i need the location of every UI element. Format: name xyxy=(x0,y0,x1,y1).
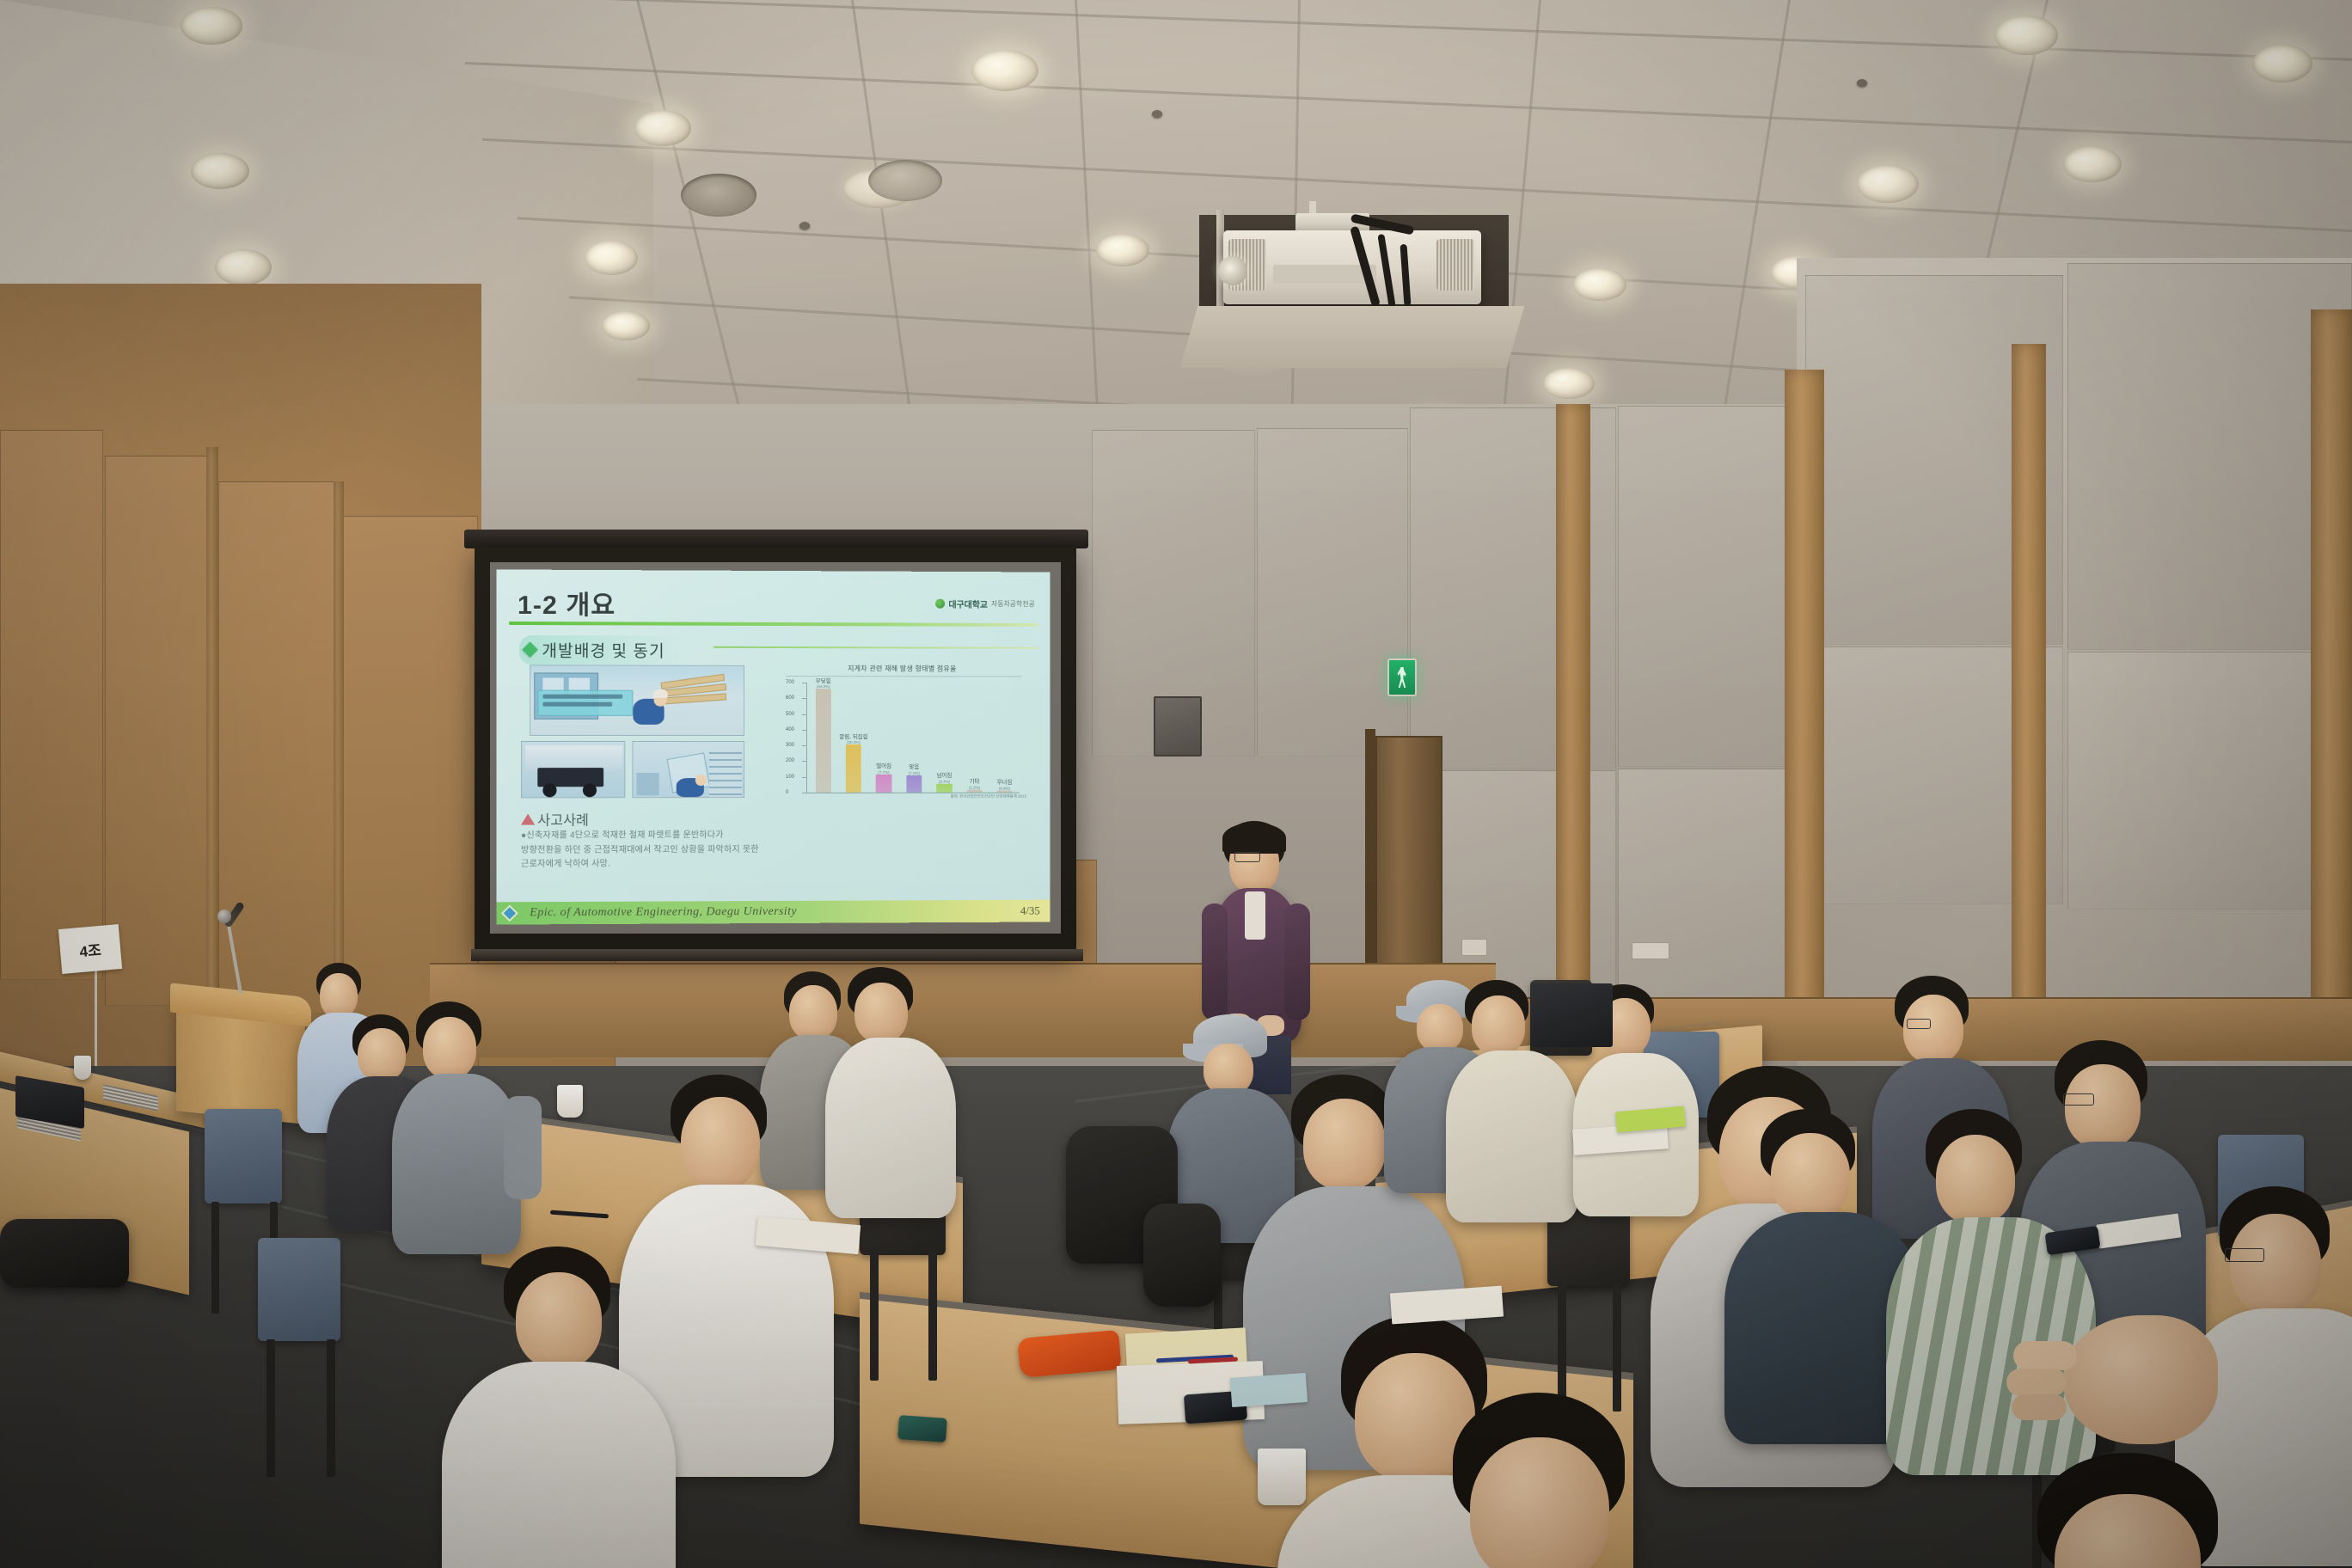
duffel-bag[interactable] xyxy=(0,1219,129,1288)
presentation-slide: 1-2 개요 대구대학교 자동차공학전공 개발배경 및 동기 xyxy=(497,569,1050,924)
illustration-forklift-accident-1 xyxy=(530,665,744,736)
ceiling-downlight xyxy=(971,50,1038,91)
light-switch-plate[interactable] xyxy=(1632,942,1669,959)
ceiling-downlight xyxy=(585,241,638,275)
laptop[interactable] xyxy=(1530,983,1613,1047)
slide-footer: Epic. of Automotive Engineering, Daegu U… xyxy=(497,900,1050,925)
chart-y-tick-label: 200 xyxy=(786,758,794,763)
chart-bar-label: 부딪힘(44.0%) xyxy=(816,678,831,689)
screen-surface: 1-2 개요 대구대학교 자동차공학전공 개발배경 및 동기 xyxy=(490,562,1061,934)
chart-y-tick-label: 500 xyxy=(786,712,794,717)
slide-title: 1-2 개요 xyxy=(518,584,616,622)
slide-title-rule xyxy=(509,622,1038,627)
logo-primary-text: 대구대학교 xyxy=(948,597,988,610)
chart-bar-label: 무너짐(0.8%) xyxy=(997,780,1013,791)
ceiling-downlight xyxy=(2063,146,2122,182)
illustration-forklift-photo xyxy=(521,741,625,798)
wood-panel xyxy=(105,456,217,1006)
case-heading-text: 사고사례 xyxy=(537,808,589,829)
slide-subtitle-rule xyxy=(714,646,1038,649)
case-line: ●신축자재를 4단으로 적재한 철재 파렛트를 운반하다가 xyxy=(521,829,884,844)
chart-plot-area: 부딪힘(44.0%)깔림, 뒤집힘(20.3%)떨어짐(7.7%)맞음(7.3%… xyxy=(808,683,1020,793)
case-heading: 사고사례 xyxy=(521,808,884,830)
wood-panel xyxy=(340,516,478,1032)
slide-page-number: 4/35 xyxy=(1020,904,1040,918)
slide-bar-chart: 지게차 관련 재해 발생 형태별 점유율 부딪힘(44.0%)깔림, 뒤집힘(2… xyxy=(774,664,1030,818)
chart-y-tick-label: 0 xyxy=(786,790,788,795)
projector-vent xyxy=(1436,239,1474,291)
wood-panel xyxy=(218,481,339,1014)
chart-bar-label: 맞음(7.3%) xyxy=(909,764,920,775)
microphone-head xyxy=(217,910,231,923)
chart-bar-label: 넘어짐(3.7%) xyxy=(937,773,952,784)
lecture-hall-photo: 1-2 개요 대구대학교 자동차공학전공 개발배경 및 동기 xyxy=(0,0,2352,1568)
projector-lens xyxy=(1218,256,1247,285)
wood-column xyxy=(334,481,344,1032)
chart-y-tick-label: 600 xyxy=(786,695,794,701)
screen-roller-case xyxy=(464,530,1088,548)
sprinkler-head xyxy=(799,222,810,230)
ceiling-downlight xyxy=(191,153,249,189)
ceiling-grid-line xyxy=(482,0,2352,61)
chart-y-tick-label: 400 xyxy=(786,727,794,732)
illustration-forklift-accident-2 xyxy=(632,741,744,798)
illustration-caption-box xyxy=(537,690,633,716)
chart-y-axis xyxy=(806,683,807,793)
sign-stand-pole xyxy=(95,963,97,1066)
chart-y-tick-mark xyxy=(802,777,806,778)
ceiling-downlight xyxy=(215,249,272,285)
ceiling-projector xyxy=(1199,215,1509,370)
wood-column xyxy=(2012,344,2046,1032)
chart-y-tick-mark xyxy=(802,698,806,699)
chart-bar: 떨어짐(7.7%) xyxy=(876,775,891,793)
chart-y-tick-label: 100 xyxy=(786,775,794,780)
ceiling-speaker xyxy=(868,160,942,201)
chart-y-tick-mark xyxy=(802,714,806,715)
wood-column xyxy=(2311,309,2352,1049)
wood-column xyxy=(206,447,218,1014)
ceiling-downlight xyxy=(602,311,650,340)
chart-bar: 맞음(7.3%) xyxy=(906,775,922,793)
screen-bottom-bar xyxy=(471,949,1083,961)
ceiling-downlight xyxy=(2252,45,2312,83)
light-switch-plate[interactable] xyxy=(1461,939,1487,956)
chart-title: 지게차 관련 재해 발생 형태별 점유율 xyxy=(774,664,1030,674)
chart-bar: 무너짐(0.8%) xyxy=(996,790,1012,792)
ceiling-grid-line xyxy=(465,62,2352,144)
ceiling-downlight xyxy=(1543,368,1595,399)
booklet[interactable] xyxy=(1230,1373,1308,1407)
warning-triangle-icon xyxy=(521,813,535,824)
wood-panel xyxy=(0,430,103,980)
paper-cup[interactable] xyxy=(74,1056,91,1080)
paper-cup[interactable] xyxy=(557,1085,583,1118)
slide-subtitle-text: 개발배경 및 동기 xyxy=(542,638,665,662)
running-man-icon xyxy=(1397,667,1407,688)
wall-panel xyxy=(1618,406,1798,767)
wall-panel xyxy=(2067,263,2352,650)
chart-bar-label: 기타(1.2%) xyxy=(969,779,980,790)
wood-column xyxy=(1785,370,1824,1057)
projection-screen: 1-2 개요 대구대학교 자동차공학전공 개발배경 및 동기 xyxy=(475,547,1076,952)
logo-mark-icon xyxy=(936,599,946,609)
smartphone[interactable] xyxy=(897,1415,947,1442)
chart-y-tick-mark xyxy=(802,761,806,762)
ceiling-downlight xyxy=(634,110,691,146)
projector-body xyxy=(1223,230,1481,304)
chart-top-rule xyxy=(786,676,1021,677)
slide-case-section: 사고사례 ●신축자재를 4단으로 적재한 철재 파렛트를 운반하다가 방향전환을… xyxy=(521,808,884,873)
ceiling-vent xyxy=(681,174,756,217)
chart-bar-label: 깔림, 뒤집힘(20.3%) xyxy=(839,734,867,745)
chart-bar: 기타(1.2%) xyxy=(966,789,982,792)
wall-panel xyxy=(1257,428,1408,756)
ceiling-downlight xyxy=(1573,268,1626,301)
ceiling-downlight xyxy=(1096,234,1149,266)
chart-y-tick-mark xyxy=(802,730,806,731)
slide-illustrations xyxy=(521,665,746,799)
case-line: 방향전환을 하던 중 근접적재대에서 작고인 상황을 파악하지 못한 xyxy=(521,842,884,858)
chart-bar-label: 떨어짐(7.7%) xyxy=(876,763,891,775)
logo-secondary-text: 자동차공학전공 xyxy=(991,599,1035,609)
sprinkler-head xyxy=(1857,79,1867,87)
chart-y-tick-mark xyxy=(802,683,806,683)
wall-panel xyxy=(1618,769,1798,1026)
case-line: 근로자에게 낙하여 사망. xyxy=(521,857,884,873)
stage-wood-band xyxy=(430,963,1496,1057)
footer-diamond-icon xyxy=(501,904,518,922)
chart-source-note: 출처: 한국산업안전보건공단 산업재해통계 2013 xyxy=(950,794,1026,799)
ceiling-downlight xyxy=(181,7,242,45)
ceiling-downlight xyxy=(1994,15,2058,55)
slide-logo: 대구대학교 자동차공학전공 xyxy=(936,597,1035,610)
chart-y-tick-mark xyxy=(802,793,806,793)
wall-panel xyxy=(2067,652,2352,910)
exit-sign xyxy=(1387,658,1417,696)
sprinkler-head xyxy=(1152,110,1162,118)
chart-y-tick-label: 700 xyxy=(786,680,794,685)
ceiling-downlight xyxy=(1857,165,1919,203)
team-number-sign: 4조 xyxy=(58,924,122,974)
chart-bar: 깔림, 뒤집힘(20.3%) xyxy=(846,744,861,793)
footer-text: Epic. of Automotive Engineering, Daegu U… xyxy=(530,905,797,920)
chart-bar: 부딪힘(44.0%) xyxy=(815,689,830,793)
wall-speaker xyxy=(1154,696,1202,756)
projector-housing-shadow xyxy=(1180,306,1525,368)
chart-y-tick-mark xyxy=(802,745,806,746)
paper-cup[interactable] xyxy=(1258,1449,1306,1505)
diamond-bullet-icon xyxy=(522,641,538,658)
chart-y-tick-label: 300 xyxy=(786,743,794,748)
wood-column xyxy=(1556,404,1590,1057)
backpack[interactable] xyxy=(1143,1204,1221,1307)
slide-subtitle: 개발배경 및 동기 xyxy=(519,635,688,665)
chart-bar: 넘어짐(3.7%) xyxy=(936,784,952,793)
